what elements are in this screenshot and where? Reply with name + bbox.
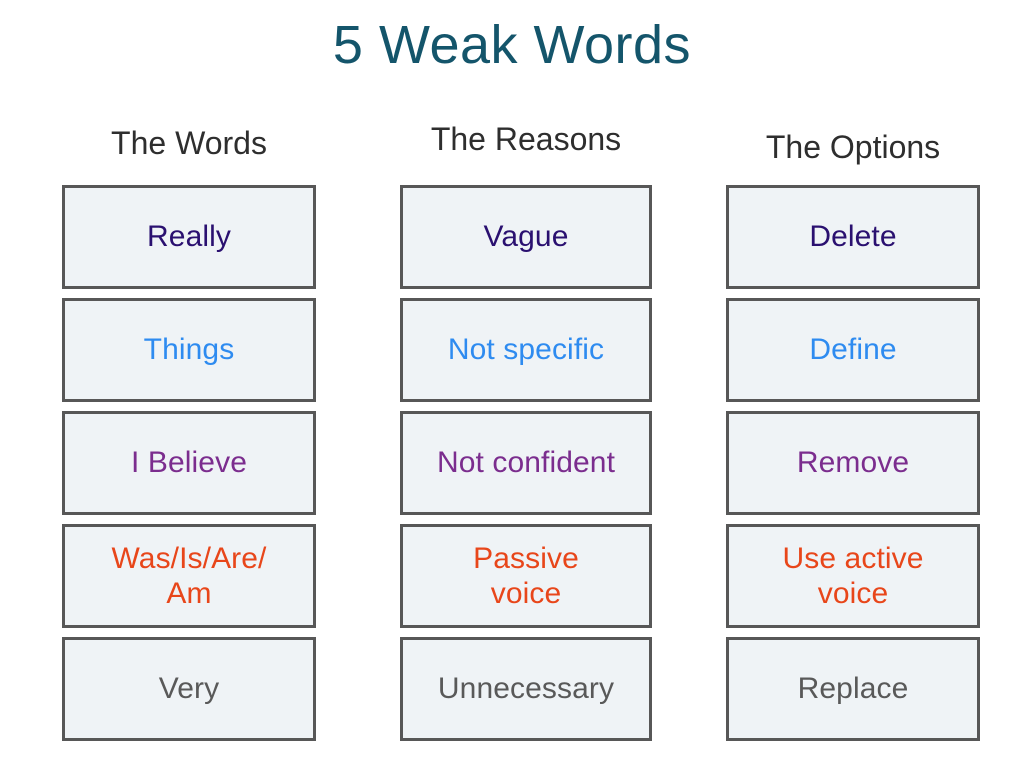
card-label: Things — [144, 332, 235, 367]
column-options: Delete Define Remove Use active voice Re… — [726, 185, 980, 741]
card-label: Use active voice — [782, 541, 923, 612]
card-options-5[interactable]: Replace — [726, 637, 980, 741]
card-reasons-5[interactable]: Unnecessary — [400, 637, 652, 741]
card-label: I Believe — [131, 445, 247, 480]
card-label: Delete — [809, 219, 896, 254]
card-label: Really — [147, 219, 231, 254]
column-words: Really Things I Believe Was/Is/Are/ Am V… — [62, 185, 316, 741]
card-words-5[interactable]: Very — [62, 637, 316, 741]
column-header-reasons: The Reasons — [400, 122, 652, 157]
card-label: Replace — [798, 671, 909, 706]
page-title: 5 Weak Words — [0, 14, 1024, 76]
card-words-1[interactable]: Really — [62, 185, 316, 289]
column-header-words: The Words — [62, 126, 316, 161]
card-words-2[interactable]: Things — [62, 298, 316, 402]
card-label: Was/Is/Are/ Am — [111, 541, 266, 612]
card-label: Remove — [797, 445, 909, 480]
card-label: Vague — [483, 219, 568, 254]
slide-canvas: 5 Weak Words The Words The Reasons The O… — [0, 0, 1024, 768]
card-reasons-2[interactable]: Not specific — [400, 298, 652, 402]
card-label: Not specific — [448, 332, 604, 367]
card-options-1[interactable]: Delete — [726, 185, 980, 289]
column-reasons: Vague Not specific Not confident Passive… — [400, 185, 652, 741]
card-label: Passive voice — [473, 541, 579, 612]
card-options-2[interactable]: Define — [726, 298, 980, 402]
column-header-options: The Options — [726, 130, 980, 165]
card-label: Not confident — [437, 445, 615, 480]
card-options-4[interactable]: Use active voice — [726, 524, 980, 628]
card-label: Define — [809, 332, 896, 367]
card-reasons-3[interactable]: Not confident — [400, 411, 652, 515]
card-words-4[interactable]: Was/Is/Are/ Am — [62, 524, 316, 628]
card-options-3[interactable]: Remove — [726, 411, 980, 515]
card-label: Unnecessary — [438, 671, 614, 706]
card-reasons-1[interactable]: Vague — [400, 185, 652, 289]
card-label: Very — [159, 671, 219, 706]
card-reasons-4[interactable]: Passive voice — [400, 524, 652, 628]
card-words-3[interactable]: I Believe — [62, 411, 316, 515]
